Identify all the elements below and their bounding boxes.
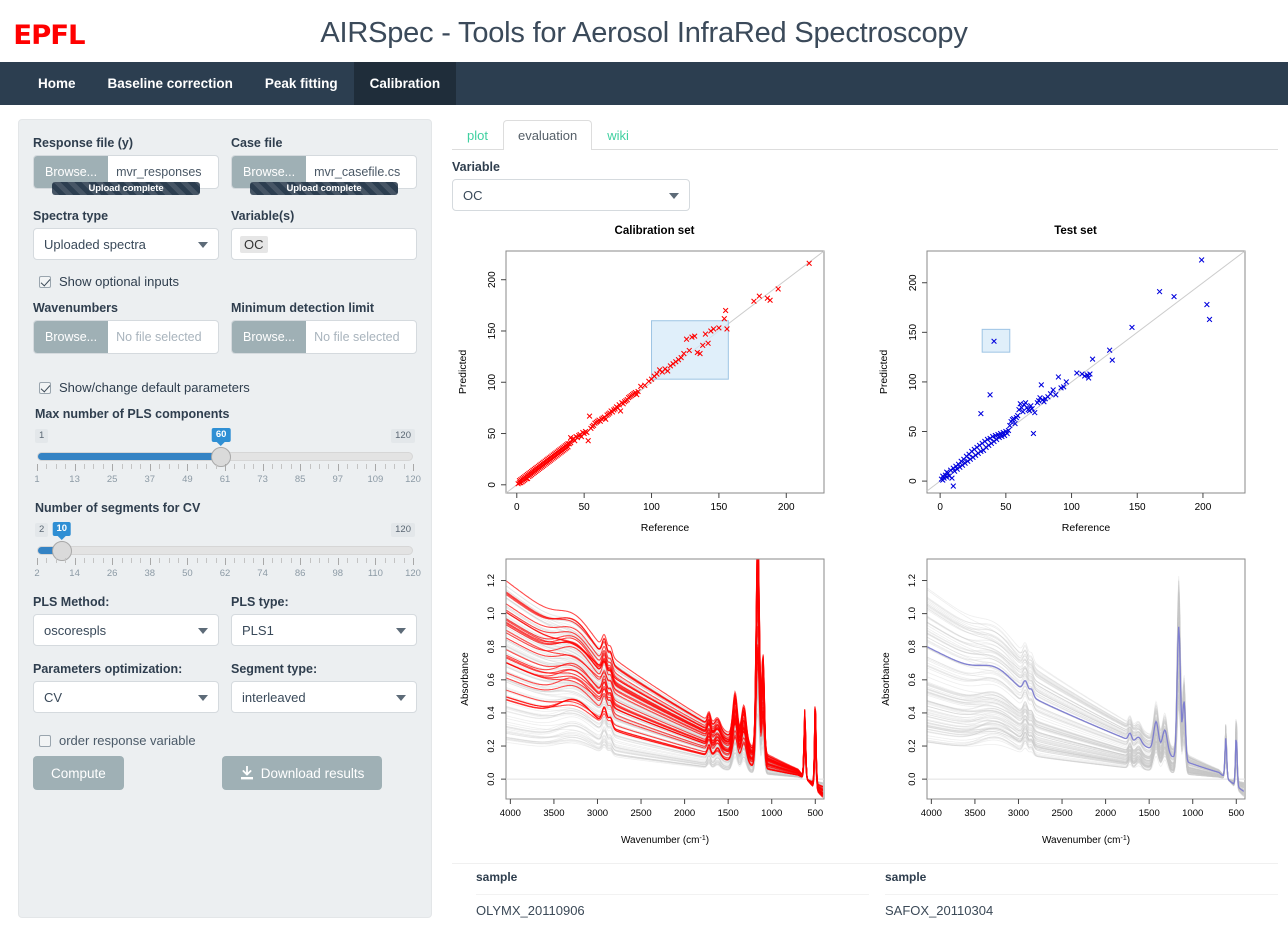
slider-tick xyxy=(46,558,47,563)
variable-token[interactable]: OC xyxy=(240,236,268,253)
download-results-label: Download results xyxy=(261,766,365,781)
slider-tick xyxy=(197,464,198,469)
slider-tick xyxy=(216,464,217,469)
case-file-progress-text: Upload complete xyxy=(286,183,361,194)
slider-tick xyxy=(375,464,376,471)
checkbox-icon xyxy=(39,382,51,394)
slider-tick xyxy=(394,558,395,563)
variables-input[interactable]: OC xyxy=(231,228,417,260)
slider-tick xyxy=(366,558,367,563)
main-panel: plot evaluation wiki Variable OC Calibra… xyxy=(446,119,1278,918)
slider-tick xyxy=(272,464,273,469)
slider-tick xyxy=(178,464,179,469)
pls-slider-ticks xyxy=(37,464,413,471)
svg-text:0.6: 0.6 xyxy=(907,673,918,686)
slider-tick xyxy=(131,464,132,469)
svg-text:150: 150 xyxy=(1129,502,1146,513)
slider-tick xyxy=(216,558,217,563)
svg-text:200: 200 xyxy=(908,274,919,291)
pls-slider-fill xyxy=(38,453,221,460)
slider-tick xyxy=(300,558,301,565)
svg-text:100: 100 xyxy=(908,373,919,390)
slider-tick xyxy=(159,558,160,563)
variable-select-label: Variable xyxy=(452,160,1278,174)
slider-tick-label: 120 xyxy=(405,568,421,579)
slider-tick xyxy=(75,558,76,565)
calibration-scatter-title: Calibration set xyxy=(452,225,857,239)
mdl-label: Minimum detection limit xyxy=(231,301,417,315)
slider-tick xyxy=(112,558,113,565)
slider-tick xyxy=(244,464,245,469)
mdl-group: Minimum detection limit Browse... No fil… xyxy=(231,301,417,358)
slider-tick xyxy=(187,464,188,471)
slider-tick xyxy=(375,558,376,565)
chevron-down-icon xyxy=(396,628,406,634)
wavenumbers-group: Wavenumbers Browse... No file selected xyxy=(33,301,219,358)
slider-tick xyxy=(310,558,311,563)
tab-bar: plot evaluation wiki xyxy=(452,119,1278,150)
svg-text:3000: 3000 xyxy=(587,808,608,819)
spectra-variable-row: Spectra type Uploaded spectra Variable(s… xyxy=(33,209,417,260)
variables-group: Variable(s) OC xyxy=(231,209,417,260)
pls-components-slider-block: Max number of PLS components 1 120 60 11… xyxy=(33,407,417,497)
svg-text:500: 500 xyxy=(807,808,823,819)
chevron-down-icon xyxy=(198,242,208,248)
mdl-browse-button[interactable]: Browse... xyxy=(232,321,306,353)
slider-tick xyxy=(206,558,207,563)
pls-type-value: PLS1 xyxy=(242,623,274,638)
case-file-input[interactable]: Browse... mvr_casefile.cs Upload complet… xyxy=(231,155,417,189)
slider-tick xyxy=(103,558,104,563)
svg-text:Reference: Reference xyxy=(1062,522,1111,534)
download-icon xyxy=(240,766,254,781)
svg-text:1.2: 1.2 xyxy=(486,574,497,587)
test-sample-value: SAFOX_20110304 xyxy=(885,895,1278,918)
pls-method-select[interactable]: oscorespls xyxy=(33,614,219,646)
test-scatter-plot: 050100150200Reference050100150200Predict… xyxy=(873,241,1263,541)
slider-tick-label: 109 xyxy=(367,474,383,485)
svg-text:50: 50 xyxy=(579,502,591,513)
svg-text:Absorbance: Absorbance xyxy=(881,652,892,706)
slider-tick xyxy=(140,558,141,563)
svg-text:0: 0 xyxy=(908,478,919,484)
slider-tick xyxy=(169,464,170,469)
variable-select-value: OC xyxy=(463,188,483,203)
optional-files-row: Wavenumbers Browse... No file selected M… xyxy=(33,301,417,358)
slider-tick xyxy=(272,558,273,563)
spacer xyxy=(33,646,417,662)
slider-tick xyxy=(93,464,94,469)
page-title: AIRSpec - Tools for Aerosol InfraRed Spe… xyxy=(0,17,1288,50)
slider-tick-label: 98 xyxy=(333,568,344,579)
cv-segments-slider-title: Number of segments for CV xyxy=(35,501,417,515)
checkbox-icon xyxy=(39,735,51,747)
slider-tick xyxy=(347,464,348,469)
pls-slider-min: 1 xyxy=(35,429,48,443)
slider-tick xyxy=(131,558,132,563)
svg-text:4000: 4000 xyxy=(921,808,942,819)
slider-tick-label: 85 xyxy=(295,474,306,485)
cv-segments-slider-block: Number of segments for CV 2 120 10 21426… xyxy=(33,501,417,591)
svg-text:50: 50 xyxy=(908,426,919,438)
show-optional-inputs-label: Show optional inputs xyxy=(59,274,179,289)
slider-tick-label: 61 xyxy=(220,474,231,485)
show-optional-inputs-checkbox[interactable]: Show optional inputs xyxy=(39,274,417,289)
slider-tick xyxy=(187,558,188,565)
mdl-file-name: No file selected xyxy=(306,321,416,353)
variable-select[interactable]: OC xyxy=(452,179,690,211)
spacer xyxy=(33,193,417,209)
slider-tick xyxy=(281,558,282,563)
slider-tick-label: 2 xyxy=(34,568,39,579)
pls-slider-value-bubble: 60 xyxy=(212,428,231,442)
svg-text:200: 200 xyxy=(487,271,498,288)
slider-tick-label: 97 xyxy=(333,474,344,485)
test-sample-column: sample SAFOX_20110304 xyxy=(885,864,1278,918)
slider-tick xyxy=(263,464,264,471)
test-spectra-plot: 4000350030002500200015001000500Wavenumbe… xyxy=(873,543,1263,855)
cv-slider-track[interactable] xyxy=(37,546,413,555)
slider-tick xyxy=(394,464,395,469)
slider-tick xyxy=(103,464,104,469)
pls-slider-max: 120 xyxy=(391,429,415,443)
response-file-label: Response file (y) xyxy=(33,136,219,150)
svg-text:200: 200 xyxy=(778,502,795,513)
calibration-sample-value: OLYMX_20110906 xyxy=(476,895,869,918)
slider-tick xyxy=(291,558,292,563)
test-sample-header: sample xyxy=(885,864,1278,895)
slider-tick-label: 37 xyxy=(145,474,156,485)
svg-text:50: 50 xyxy=(1000,502,1012,513)
pls-components-slider[interactable]: 1 120 60 11325374961738597109120 xyxy=(33,429,417,497)
wavenumbers-browse-button[interactable]: Browse... xyxy=(34,321,108,353)
pls-components-slider-title: Max number of PLS components xyxy=(35,407,417,421)
pls-type-select[interactable]: PLS1 xyxy=(231,614,417,646)
slider-tick xyxy=(357,558,358,563)
chevron-down-icon xyxy=(669,193,679,199)
svg-text:1000: 1000 xyxy=(761,808,782,819)
slider-tick-label: 25 xyxy=(107,474,118,485)
cv-slider-max: 120 xyxy=(391,523,415,537)
wavenumbers-label: Wavenumbers xyxy=(33,301,219,315)
slider-tick xyxy=(328,558,329,563)
pls-method-row: PLS Method: oscorespls PLS type: PLS1 xyxy=(33,595,417,646)
page-body: Response file (y) Browse... mvr_response… xyxy=(0,105,1288,918)
chevron-down-icon xyxy=(198,695,208,701)
slider-tick xyxy=(84,464,85,469)
slider-tick xyxy=(206,464,207,469)
slider-tick xyxy=(225,558,226,565)
slider-tick-label: 50 xyxy=(182,568,193,579)
slider-tick xyxy=(404,558,405,563)
svg-text:3000: 3000 xyxy=(1008,808,1029,819)
slider-tick xyxy=(253,558,254,563)
svg-text:Predicted: Predicted xyxy=(457,350,469,395)
svg-text:1.0: 1.0 xyxy=(907,607,918,620)
slider-tick xyxy=(150,464,151,471)
slider-tick-label: 38 xyxy=(145,568,156,579)
tab-plot[interactable]: plot xyxy=(452,120,503,150)
spectra-type-value: Uploaded spectra xyxy=(44,237,146,252)
svg-text:0.8: 0.8 xyxy=(486,640,497,653)
parameters-optimization-label: Parameters optimization: xyxy=(33,662,219,676)
show-default-parameters-checkbox[interactable]: Show/change default parameters xyxy=(39,380,417,395)
checkbox-icon xyxy=(39,276,51,288)
svg-text:Predicted: Predicted xyxy=(878,350,890,395)
slider-tick xyxy=(169,558,170,563)
slider-tick xyxy=(140,464,141,469)
parameters-optimization-select[interactable]: CV xyxy=(33,681,219,713)
svg-text:2000: 2000 xyxy=(1095,808,1116,819)
parameters-optimization-value: CV xyxy=(44,690,62,705)
slider-tick xyxy=(93,558,94,563)
show-default-parameters-label: Show/change default parameters xyxy=(59,380,250,395)
slider-tick-label: 73 xyxy=(257,474,268,485)
order-response-variable-checkbox[interactable]: order response variable xyxy=(39,733,417,748)
slider-tick xyxy=(37,558,38,565)
test-scatter-title: Test set xyxy=(873,225,1278,239)
chevron-down-icon xyxy=(198,628,208,634)
slider-tick xyxy=(75,464,76,471)
slider-tick-label: 49 xyxy=(182,474,193,485)
svg-text:150: 150 xyxy=(487,322,498,339)
slider-tick xyxy=(413,558,414,565)
slider-tick xyxy=(37,464,38,471)
slider-tick xyxy=(281,464,282,469)
nav-item-home[interactable]: Home xyxy=(22,62,92,105)
sample-table: sample OLYMX_20110906 sample SAFOX_20110… xyxy=(452,863,1278,918)
svg-text:100: 100 xyxy=(1063,502,1080,513)
test-spectra-cell: 4000350030002500200015001000500Wavenumbe… xyxy=(873,543,1278,855)
pls-type-group: PLS type: PLS1 xyxy=(231,595,417,646)
slider-tick xyxy=(122,464,123,469)
svg-text:3500: 3500 xyxy=(543,808,564,819)
slider-tick xyxy=(404,464,405,469)
slider-tick-label: 13 xyxy=(69,474,80,485)
nav-item-baseline-correction[interactable]: Baseline correction xyxy=(92,62,249,105)
slider-tick-label: 74 xyxy=(257,568,268,579)
svg-text:0.4: 0.4 xyxy=(486,706,497,719)
segment-type-value: interleaved xyxy=(242,690,306,705)
slider-tick xyxy=(197,558,198,563)
response-file-progress-text: Upload complete xyxy=(88,183,163,194)
svg-text:0.2: 0.2 xyxy=(486,739,497,752)
svg-text:100: 100 xyxy=(487,373,498,390)
cv-slider-min: 2 xyxy=(35,523,48,537)
slider-tick xyxy=(338,558,339,565)
svg-text:2500: 2500 xyxy=(630,808,651,819)
slider-tick xyxy=(385,464,386,469)
svg-text:1500: 1500 xyxy=(718,808,739,819)
svg-text:Wavenumber (cm-1): Wavenumber (cm-1) xyxy=(1042,835,1130,847)
compute-button[interactable]: Compute xyxy=(33,756,124,790)
calibration-sample-column: sample OLYMX_20110906 xyxy=(476,864,869,918)
case-file-label: Case file xyxy=(231,136,417,150)
slider-tick xyxy=(56,464,57,469)
calibration-scatter-plot: 050100150200Reference050100150200Predict… xyxy=(452,241,842,541)
cv-segments-slider[interactable]: 2 120 10 21426385062748698110120 xyxy=(33,523,417,591)
main-navbar: Home Baseline correction Peak fitting Ca… xyxy=(0,62,1288,105)
app-header: EPFL AIRSpec - Tools for Aerosol InfraRe… xyxy=(0,0,1288,62)
svg-text:2500: 2500 xyxy=(1051,808,1072,819)
slider-tick xyxy=(366,464,367,469)
parameters-optimization-group: Parameters optimization: CV xyxy=(33,662,219,713)
tab-evaluation[interactable]: evaluation xyxy=(503,120,592,150)
slider-tick-label: 86 xyxy=(295,568,306,579)
svg-text:0.0: 0.0 xyxy=(486,773,497,786)
slider-tick xyxy=(112,464,113,471)
mdl-file-input[interactable]: Browse... No file selected xyxy=(231,320,417,354)
cv-slider-ticks xyxy=(37,558,413,565)
chevron-down-icon xyxy=(396,695,406,701)
slider-tick xyxy=(150,558,151,565)
slider-tick-label: 62 xyxy=(220,568,231,579)
variables-label: Variable(s) xyxy=(231,209,417,223)
wavenumbers-file-name: No file selected xyxy=(108,321,218,353)
slider-tick-label: 110 xyxy=(368,568,383,579)
svg-text:0: 0 xyxy=(487,482,498,488)
svg-text:0.2: 0.2 xyxy=(907,739,918,752)
spectra-type-select[interactable]: Uploaded spectra xyxy=(33,228,219,260)
svg-text:150: 150 xyxy=(908,324,919,341)
wavenumbers-file-input[interactable]: Browse... No file selected xyxy=(33,320,219,354)
test-scatter-cell: Test set 050100150200Reference0501001502… xyxy=(873,225,1278,541)
pls-method-label: PLS Method: xyxy=(33,595,219,609)
slider-tick xyxy=(300,464,301,471)
svg-text:3500: 3500 xyxy=(964,808,985,819)
plots-grid: Calibration set 050100150200Reference050… xyxy=(452,225,1278,855)
slider-tick xyxy=(159,464,160,469)
slider-tick-label: 14 xyxy=(69,568,80,579)
slider-tick xyxy=(357,464,358,469)
slider-tick xyxy=(328,464,329,469)
svg-text:Wavenumber (cm-1): Wavenumber (cm-1) xyxy=(621,835,709,847)
svg-text:1.0: 1.0 xyxy=(486,607,497,620)
case-file-progress-bar: Upload complete xyxy=(250,182,398,195)
action-buttons-row: Compute Download results xyxy=(33,756,417,790)
slider-tick xyxy=(225,464,226,471)
segment-type-select[interactable]: interleaved xyxy=(231,681,417,713)
svg-text:200: 200 xyxy=(1195,502,1212,513)
calibration-sample-header: sample xyxy=(476,864,869,895)
svg-text:0.8: 0.8 xyxy=(907,640,918,653)
case-file-group: Case file Browse... mvr_casefile.cs Uplo… xyxy=(231,136,417,193)
svg-text:Absorbance: Absorbance xyxy=(460,652,471,706)
slider-tick xyxy=(56,558,57,563)
slider-tick xyxy=(178,558,179,563)
svg-text:Reference: Reference xyxy=(641,522,690,534)
slider-tick xyxy=(234,464,235,469)
svg-text:1500: 1500 xyxy=(1139,808,1160,819)
pls-method-group: PLS Method: oscorespls xyxy=(33,595,219,646)
svg-text:0.0: 0.0 xyxy=(907,773,918,786)
slider-tick xyxy=(319,558,320,563)
svg-text:1000: 1000 xyxy=(1182,808,1203,819)
svg-text:150: 150 xyxy=(711,502,728,513)
svg-text:500: 500 xyxy=(1228,808,1244,819)
calibration-spectra-cell: 4000350030002500200015001000500Wavenumbe… xyxy=(452,543,857,855)
slider-tick xyxy=(291,464,292,469)
svg-text:100: 100 xyxy=(643,502,660,513)
calibration-scatter-cell: Calibration set 050100150200Reference050… xyxy=(452,225,857,541)
response-file-group: Response file (y) Browse... mvr_response… xyxy=(33,136,219,193)
slider-tick xyxy=(244,558,245,563)
response-file-progress-bar: Upload complete xyxy=(52,182,200,195)
nav-item-calibration[interactable]: Calibration xyxy=(354,62,457,105)
pls-method-value: oscorespls xyxy=(44,623,106,638)
cv-slider-tick-labels: 21426385062748698110120 xyxy=(37,568,413,582)
svg-text:0.4: 0.4 xyxy=(907,706,918,719)
slider-tick xyxy=(65,558,66,563)
slider-tick xyxy=(310,464,311,469)
slider-tick xyxy=(122,558,123,563)
calibration-spectra-plot: 4000350030002500200015001000500Wavenumbe… xyxy=(452,543,842,855)
cv-slider-value-bubble: 10 xyxy=(53,522,72,536)
slider-tick xyxy=(234,558,235,563)
slider-tick xyxy=(385,558,386,563)
svg-text:4000: 4000 xyxy=(500,808,521,819)
svg-text:0: 0 xyxy=(937,502,943,513)
slider-tick xyxy=(46,464,47,469)
slider-tick xyxy=(65,464,66,469)
svg-text:2000: 2000 xyxy=(674,808,695,819)
slider-tick xyxy=(253,464,254,469)
response-file-input[interactable]: Browse... mvr_responses Upload complete xyxy=(33,155,219,189)
segment-type-group: Segment type: interleaved xyxy=(231,662,417,713)
spectra-type-label: Spectra type xyxy=(33,209,219,223)
optimization-row: Parameters optimization: CV Segment type… xyxy=(33,662,417,713)
slider-tick xyxy=(319,464,320,469)
slider-tick-label: 1 xyxy=(34,474,39,485)
segment-type-label: Segment type: xyxy=(231,662,417,676)
pls-slider-tick-labels: 11325374961738597109120 xyxy=(37,474,413,488)
pls-type-label: PLS type: xyxy=(231,595,417,609)
svg-text:1.2: 1.2 xyxy=(907,574,918,587)
slider-tick xyxy=(347,558,348,563)
slider-tick xyxy=(84,558,85,563)
slider-tick-label: 120 xyxy=(405,474,421,485)
order-response-variable-label: order response variable xyxy=(59,733,196,748)
svg-text:0: 0 xyxy=(514,502,520,513)
download-results-button[interactable]: Download results xyxy=(222,756,383,790)
tab-wiki[interactable]: wiki xyxy=(592,120,644,150)
slider-tick-label: 26 xyxy=(107,568,118,579)
sidebar-panel: Response file (y) Browse... mvr_response… xyxy=(18,119,432,918)
spectra-type-group: Spectra type Uploaded spectra xyxy=(33,209,219,260)
nav-item-peak-fitting[interactable]: Peak fitting xyxy=(249,62,354,105)
slider-tick xyxy=(338,464,339,471)
file-upload-row: Response file (y) Browse... mvr_response… xyxy=(33,136,417,193)
svg-text:0.6: 0.6 xyxy=(486,673,497,686)
spacer xyxy=(124,756,222,790)
slider-tick xyxy=(413,464,414,471)
slider-tick xyxy=(263,558,264,565)
svg-text:50: 50 xyxy=(487,428,498,440)
